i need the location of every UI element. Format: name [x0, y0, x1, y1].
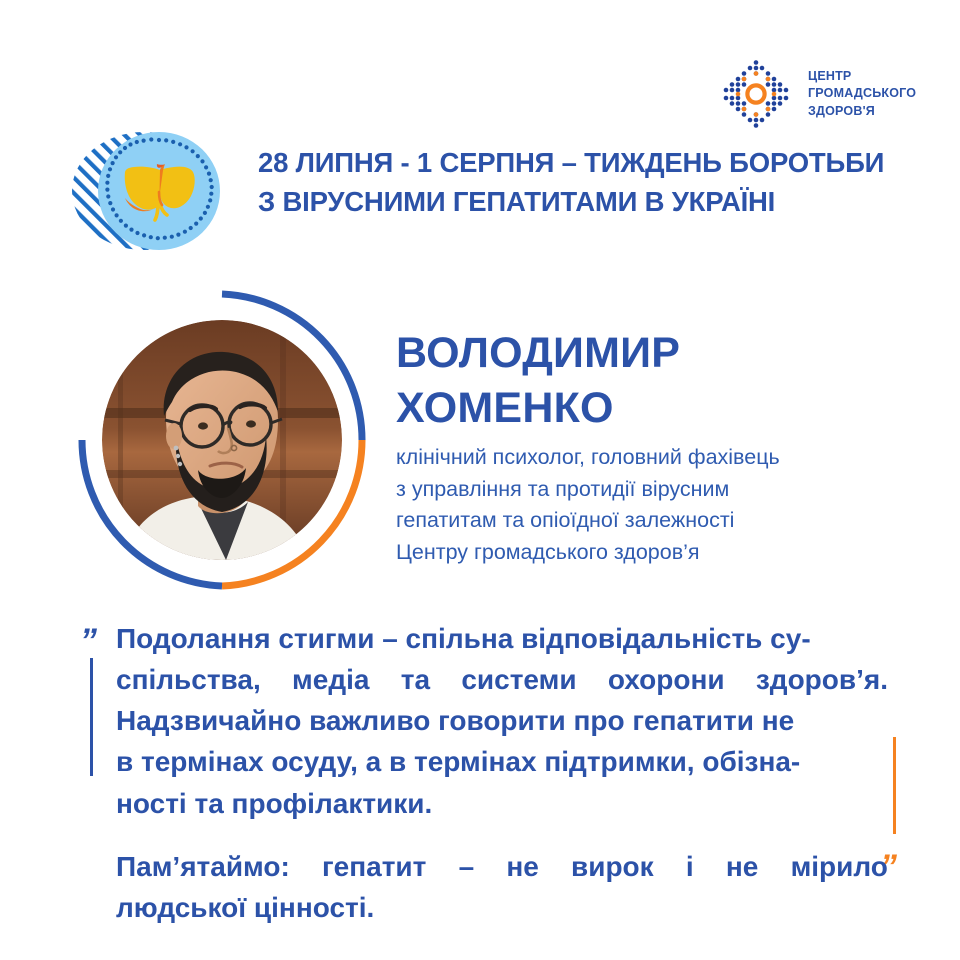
quote-left-rule [90, 658, 93, 776]
quote-paragraph-2: Пам’ятаймо: гепатит – не вирок і не міри… [116, 846, 888, 928]
quote-section: ” ” Подолання стигми – спільна відповіда… [0, 612, 960, 912]
quote-p2-line-2: людської цінності. [116, 887, 888, 928]
speaker-name: ВОЛОДИМИР ХОМЕНКО [396, 326, 680, 436]
logo-wordmark-line-1: ЦЕНТР [808, 68, 916, 85]
speaker-first-name: ВОЛОДИМИР [396, 326, 680, 381]
speaker-role-line-2: з управління та протидії вірусним [396, 474, 916, 506]
quote-word: мірило [791, 846, 888, 887]
quote-paragraph-1: Подолання стигми – спільна відповідальні… [116, 618, 888, 824]
quote-p1-line-3: Надзвичайно важливо говорити про гепатит… [116, 700, 888, 741]
speaker-role-line-1: клінічний психолог, головний фахівець [396, 442, 916, 474]
quote-word: спільства, [116, 659, 261, 700]
quote-text: Подолання стигми – спільна відповідальні… [116, 618, 888, 928]
speaker-role-line-4: Центру громадського здоров’я [396, 537, 916, 569]
quote-word: охорони [608, 659, 725, 700]
banner-title-line-2: З ВІРУСНИМИ ГЕПАТИТАМИ В УКРАЇНІ [258, 182, 938, 221]
quote-word: не [506, 846, 538, 887]
quote-word: не [726, 846, 758, 887]
quote-word: – [459, 846, 475, 887]
speaker-last-name: ХОМЕНКО [396, 381, 680, 436]
liver-icon [120, 158, 198, 224]
quote-p1-line-5: ності та профілактики. [116, 783, 888, 824]
organization-logo: ЦЕНТР ГРОМАДСЬКОГО ЗДОРОВ'Я [718, 55, 898, 133]
speaker-portrait-block [70, 290, 390, 590]
quote-p1-line-2: спільства, медіа та системи охорони здор… [116, 659, 888, 700]
quote-word: та [401, 659, 430, 700]
quote-word: гепатит [322, 846, 426, 887]
speaker-section: ВОЛОДИМИР ХОМЕНКО клінічний психолог, го… [0, 290, 960, 590]
quote-word: Пам’ятаймо: [116, 846, 290, 887]
quote-word: вирок [571, 846, 654, 887]
banner-title-line-1: 28 ЛИПНЯ - 1 СЕРПНЯ – ТИЖДЕНЬ БОРОТЬБИ [258, 143, 938, 182]
quote-open-mark-icon: ” [80, 624, 95, 658]
quote-word: здоров’я. [756, 659, 888, 700]
speaker-portrait [102, 320, 342, 560]
quote-word: і [686, 846, 694, 887]
speaker-role: клінічний психолог, головний фахівець з … [396, 442, 916, 568]
logo-wordmark: ЦЕНТР ГРОМАДСЬКОГО ЗДОРОВ'Я [808, 68, 916, 120]
quote-word: системи [461, 659, 576, 700]
quote-word: медіа [292, 659, 369, 700]
quote-p1-line-1: Подолання стигми – спільна відповідальні… [116, 618, 888, 659]
tsentr-hromadskoho-zdorovya-logo-icon [718, 56, 794, 132]
liver-badge [98, 132, 220, 250]
campaign-banner: 28 ЛИПНЯ - 1 СЕРПНЯ – ТИЖДЕНЬ БОРОТЬБИ З… [0, 132, 960, 250]
quote-right-rule [893, 737, 896, 834]
speaker-role-line-3: гепатитам та опіоїдної залежності [396, 505, 916, 537]
logo-wordmark-line-2: ГРОМАДСЬКОГО [808, 85, 916, 102]
logo-wordmark-line-3: ЗДОРОВ'Я [808, 103, 916, 120]
quote-p1-line-4: в термінах осуду, а в термінах підтримки… [116, 741, 888, 782]
quote-p2-line-1: Пам’ятаймо: гепатит – не вирок і не міри… [116, 846, 888, 887]
banner-title: 28 ЛИПНЯ - 1 СЕРПНЯ – ТИЖДЕНЬ БОРОТЬБИ З… [258, 143, 938, 221]
